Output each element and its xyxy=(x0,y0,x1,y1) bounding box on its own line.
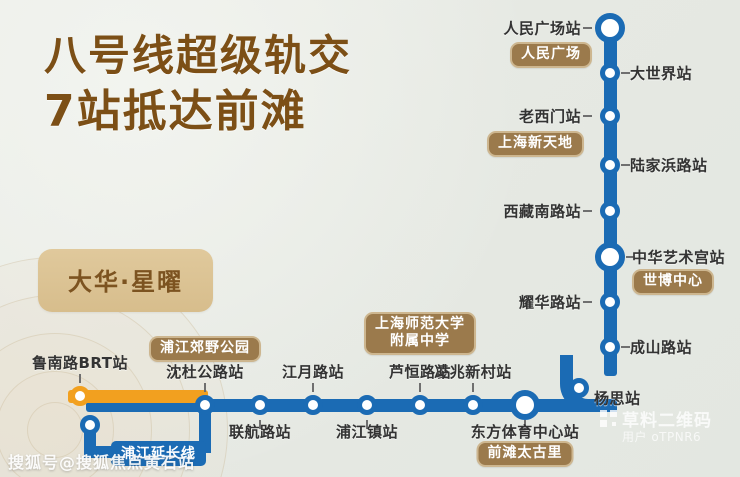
station-dot-luheng-road[interactable] xyxy=(410,395,430,415)
station-dot-renmin-square[interactable] xyxy=(595,13,625,43)
station-label-south-xizang-road: 西藏南路站 xyxy=(503,201,581,222)
leader-tick xyxy=(583,210,592,212)
station-label-laoximen: 老西门站 xyxy=(519,106,581,127)
station-label-shendu-road: 沈杜公路站 xyxy=(166,361,244,382)
station-dot-shendu-road[interactable] xyxy=(195,395,215,415)
station-label-pujiang-town: 浦江镇站 xyxy=(336,421,398,442)
station-dot-laoximen[interactable] xyxy=(600,106,620,126)
leader-tick xyxy=(79,374,81,383)
leader-tick xyxy=(583,115,592,117)
station-dot-lianhang-road[interactable] xyxy=(250,395,270,415)
station-label-dashijie: 大世界站 xyxy=(630,63,692,84)
headline-line-2: 7站抵达前滩 xyxy=(44,84,352,140)
station-label-yangsi: 杨思站 xyxy=(594,388,641,409)
station-label-china-art-museum: 中华艺术宫站 xyxy=(632,247,725,268)
poi-badge-expo-center: 世博中心 xyxy=(632,269,714,295)
leader-tick xyxy=(583,27,592,29)
station-label-luheng-road: 芦恒路站 xyxy=(389,361,451,382)
leader-tick xyxy=(621,164,630,166)
leader-tick xyxy=(419,383,421,392)
station-label-lunan-road-brt: 鲁南路BRT站 xyxy=(32,352,128,373)
headline-block: 八号线超级轨交 7站抵达前滩 xyxy=(44,30,352,140)
branch-line-tag: 浦江延长线 xyxy=(111,441,206,466)
poi-badge-line-2: 附属中学 xyxy=(375,333,465,350)
brand-plate: 大华·星曜 xyxy=(38,249,213,312)
leader-tick xyxy=(472,383,474,392)
station-dot-chengshan-road[interactable] xyxy=(600,337,620,357)
qr-code-icon xyxy=(600,410,617,427)
station-label-yaohua-road: 耀华路站 xyxy=(519,292,581,313)
leader-tick xyxy=(583,301,592,303)
station-label-chengshan-road: 成山路站 xyxy=(630,337,692,358)
station-dot-china-art-museum[interactable] xyxy=(595,242,625,272)
station-dot-branch-terminal[interactable] xyxy=(80,415,100,435)
poi-badge-pujiang-country-park: 浦江郊野公园 xyxy=(149,336,261,362)
poi-badge-renmin-square: 人民广场 xyxy=(510,42,592,68)
poi-badge-qiantan-taikoo-li: 前滩太古里 xyxy=(477,441,574,467)
poi-badge-xintiandi: 上海新天地 xyxy=(487,131,584,157)
station-label-jiangyue-road: 江月路站 xyxy=(282,361,344,382)
station-dot-jiangyue-road[interactable] xyxy=(303,395,323,415)
poi-badge-line-1: 上海师范大学 xyxy=(375,316,465,333)
station-label-lianhang-road: 联航路站 xyxy=(229,421,291,442)
station-dot-lingzhao-xincun[interactable] xyxy=(463,395,483,415)
station-label-renmin-square: 人民广场站 xyxy=(503,18,581,39)
station-dot-yangsi[interactable] xyxy=(569,378,589,398)
leader-tick xyxy=(312,383,314,392)
station-dot-lunan-road-brt[interactable] xyxy=(70,386,90,406)
poi-badge-shnu-affiliated-middle-school: 上海师范大学 附属中学 xyxy=(364,312,476,355)
station-dot-dashijie[interactable] xyxy=(600,63,620,83)
station-dot-yaohua-road[interactable] xyxy=(600,292,620,312)
metro-line-poster: 八号线超级轨交 7站抵达前滩 大华·星曜 人民广场站 人民广场 大世界站 老西门… xyxy=(0,0,740,477)
headline-line-1: 八号线超级轨交 xyxy=(44,30,352,82)
brand-name: 大华·星曜 xyxy=(68,262,183,297)
qr-watermark-user: 用户 oTPNR6 xyxy=(622,428,701,445)
station-dot-pujiang-town[interactable] xyxy=(357,395,377,415)
station-dot-oriental-sports-center[interactable] xyxy=(510,390,540,420)
leader-tick xyxy=(204,383,206,392)
station-dot-lujiabang-road[interactable] xyxy=(600,155,620,175)
qr-watermark-label: 草料二维码 xyxy=(622,406,712,431)
station-label-oriental-sports-center: 东方体育中心站 xyxy=(471,421,580,442)
station-label-lujiabang-road: 陆家浜路站 xyxy=(630,155,708,176)
leader-tick xyxy=(621,346,630,348)
leader-tick xyxy=(621,72,630,74)
station-dot-south-xizang-road[interactable] xyxy=(600,201,620,221)
